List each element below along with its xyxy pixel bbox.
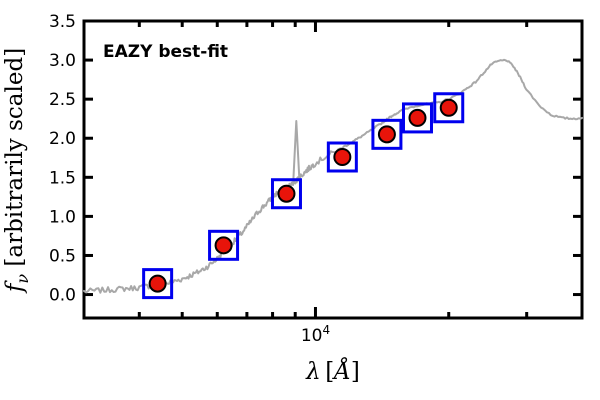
sed-plot: 0.00.51.01.52.02.53.03.5 104 EAZY best-f…: [0, 0, 600, 400]
y-tick-label: 3.0: [49, 51, 76, 71]
emission-line-spike: [293, 121, 299, 181]
emission-line-path: [293, 121, 299, 181]
x-axis-tick-labels: 104: [301, 323, 330, 346]
photometry-point-marker: [334, 149, 350, 165]
y-tick-label: 0.5: [49, 246, 76, 266]
photometry-point-marker: [409, 110, 425, 126]
x-axis-label: λ [Å]: [305, 357, 360, 385]
photometry-points: [144, 94, 463, 298]
y-tick-label: 2.0: [49, 129, 76, 149]
model-spectrum-line: [84, 60, 582, 293]
y-tick-label: 3.5: [49, 12, 76, 32]
photometry-point-marker: [150, 276, 166, 292]
y-tick-label: 1.0: [49, 207, 76, 227]
y-axis-tick-labels: 0.00.51.01.52.02.53.03.5: [49, 12, 76, 306]
figure-container: 0.00.51.01.52.02.53.03.5 104 EAZY best-f…: [0, 0, 600, 400]
x-axis-minor-ticks: [139, 21, 582, 318]
photometry-point-marker: [216, 237, 232, 253]
y-tick-label: 1.5: [49, 168, 76, 188]
y-axis-label: fν [arbitrarily scaled]: [2, 48, 32, 294]
photometry-point-marker: [278, 186, 294, 202]
spectrum-path: [84, 60, 582, 293]
y-tick-label: 2.5: [49, 90, 76, 110]
y-tick-label: 0.0: [49, 286, 76, 306]
photometry-point-marker: [379, 126, 395, 142]
x-tick-label: 104: [301, 323, 330, 346]
photometry-point-marker: [441, 100, 457, 116]
eazy-best-fit-annotation: EAZY best-fit: [103, 42, 228, 62]
